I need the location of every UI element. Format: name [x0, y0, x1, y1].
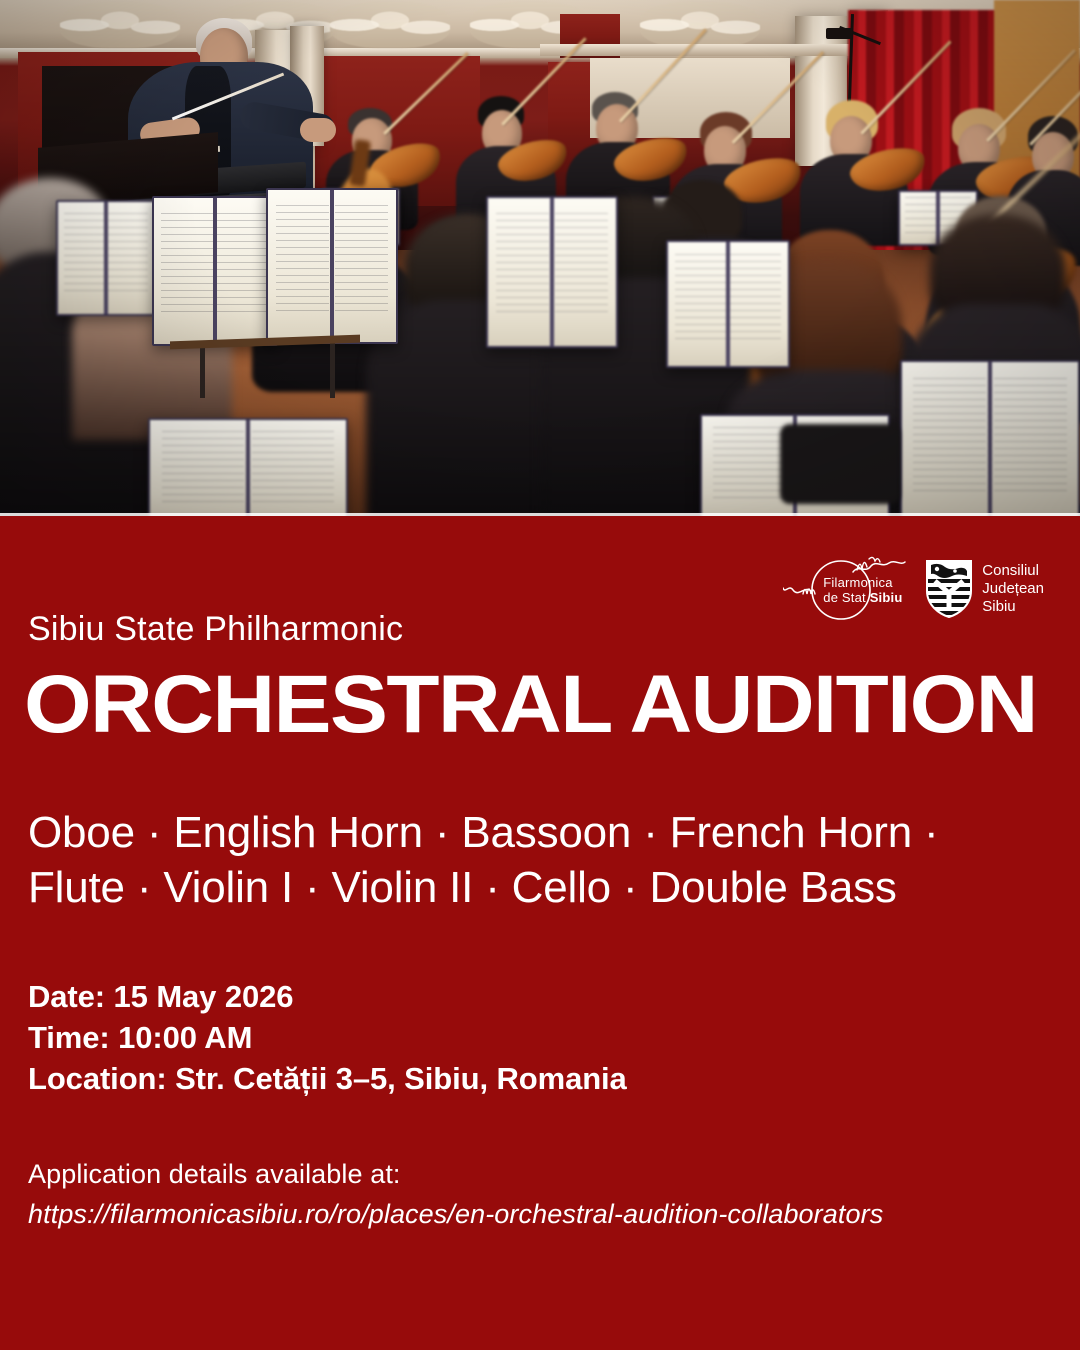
event-details: Date: 15 May 2026 Time: 10:00 AM Locatio… — [28, 976, 627, 1100]
filarmonica-logo: Filarmonica de Stat Sibiu — [783, 554, 907, 624]
stucco-ornament — [640, 2, 760, 48]
filarmonica-logo-line2-bold: Sibiu — [870, 590, 903, 605]
music-stand — [56, 200, 156, 316]
page-title: ORCHESTRAL AUDITION — [24, 664, 1037, 746]
logo-group: Filarmonica de Stat Sibiu — [783, 554, 1044, 624]
audition-poster: Filarmonica de Stat Sibiu — [0, 0, 1080, 1350]
consiliul-judetean-logo: Consiliul Județean Sibiu — [925, 559, 1044, 619]
orchestra-photo — [0, 0, 1080, 516]
cj-line1: Consiliul — [982, 562, 1044, 580]
application-info: Application details available at: https:… — [28, 1156, 1052, 1233]
event-date: Date: 15 May 2026 — [28, 976, 627, 1017]
stand-leg — [200, 344, 205, 398]
music-stand — [900, 360, 1080, 516]
event-location: Location: Str. Cetății 3–5, Sibiu, Roman… — [28, 1058, 627, 1099]
cj-line2: Județean — [982, 580, 1044, 598]
music-stand — [152, 196, 278, 346]
instruments-line-2: Flute · Violin I · Violin II · Cello · D… — [28, 861, 1010, 916]
microphone — [826, 28, 852, 39]
stucco-ornament — [330, 2, 450, 48]
filarmonica-logo-line1: Filarmonica — [823, 576, 902, 591]
instruments-line-1: Oboe · English Horn · Bassoon · French H… — [28, 806, 1010, 861]
poster-content: Filarmonica de Stat Sibiu — [0, 516, 1080, 1350]
application-url[interactable]: https://filarmonicasibiu.ro/ro/places/en… — [28, 1196, 1052, 1232]
county-coat-of-arms-icon — [925, 559, 973, 619]
consiliul-judetean-logo-text: Consiliul Județean Sibiu — [982, 562, 1044, 617]
music-stand — [486, 196, 618, 348]
organisation-name: Sibiu State Philharmonic — [28, 610, 403, 649]
stucco-ornament — [60, 2, 180, 48]
stand-leg — [330, 342, 335, 398]
filarmonica-logo-line2: de Stat Sibiu — [823, 591, 902, 606]
event-time: Time: 10:00 AM — [28, 1017, 627, 1058]
instruments-list: Oboe · English Horn · Bassoon · French H… — [28, 806, 1010, 915]
cj-line3: Sibiu — [982, 598, 1044, 616]
music-stand — [666, 240, 790, 368]
chair — [780, 424, 900, 504]
filarmonica-logo-line2-prefix: de Stat — [823, 590, 869, 605]
application-lead: Application details available at: — [28, 1156, 1052, 1192]
music-stand — [266, 188, 398, 344]
filarmonica-logo-text: Filarmonica de Stat Sibiu — [823, 576, 902, 605]
music-stand — [148, 418, 348, 516]
